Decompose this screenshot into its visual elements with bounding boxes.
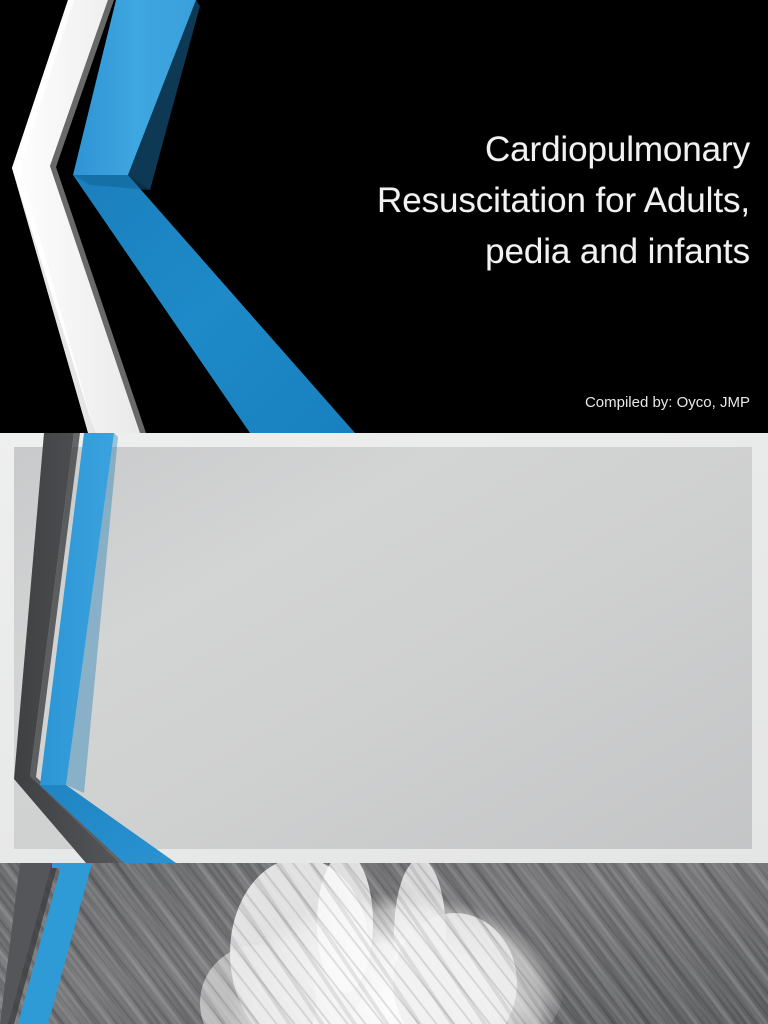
title-slide: Cardiopulmonary Resuscitation for Adults… [0,0,768,433]
slide-subtitle-compiled-by: Compiled by: Oyco, JMP [230,394,750,411]
title-line-2: Resuscitation for Adults, [230,175,750,226]
title-line-1: Cardiopulmonary [230,124,750,175]
slide-title: Cardiopulmonary Resuscitation for Adults… [230,124,750,277]
chevron-decoration-icon [0,433,768,863]
basic-life-support-slide: Basic Life Support [0,863,768,1024]
cpr-photo-background [0,863,768,1024]
presentation-page: Cardiopulmonary Resuscitation for Adults… [0,0,768,1024]
title-line-3: pedia and infants [230,226,750,277]
course-outline-slide: Course Outline Lesson 1: Introduction to… [0,433,768,863]
